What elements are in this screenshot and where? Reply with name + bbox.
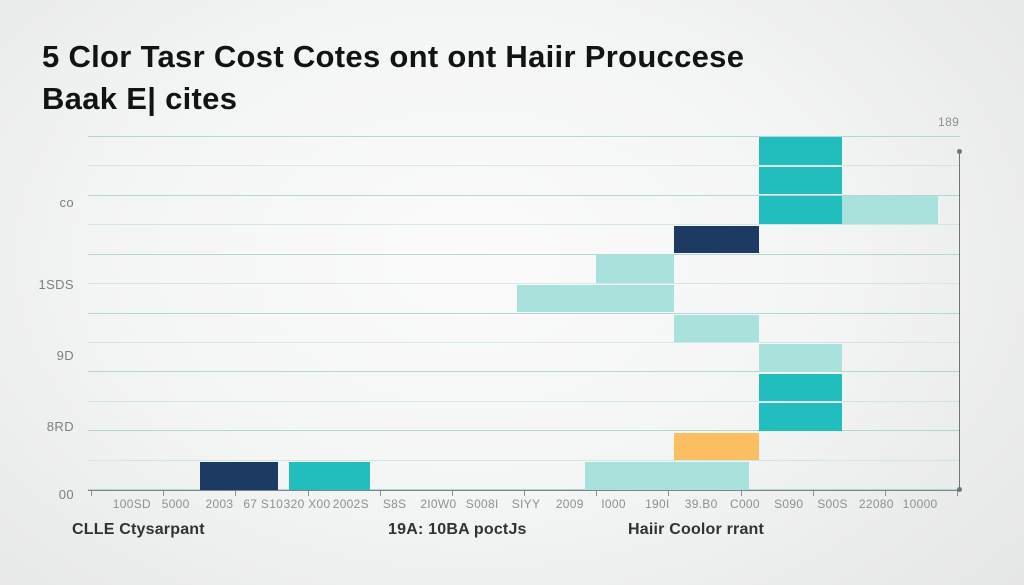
x-axis-tick-label: SIYY bbox=[512, 497, 541, 511]
bar-segment[interactable] bbox=[289, 462, 370, 490]
x-axis-tick-label: 100SD bbox=[113, 497, 151, 511]
x-axis-tick-mark bbox=[813, 491, 814, 496]
x-axis-tick-label: S090 bbox=[774, 497, 803, 511]
bar-segment[interactable] bbox=[674, 226, 759, 254]
x-axis-tick-mark bbox=[524, 491, 525, 496]
plot-area bbox=[88, 136, 960, 491]
x-axis-tick-mark bbox=[452, 491, 453, 496]
gridline bbox=[88, 313, 960, 314]
x-axis-tick-mark bbox=[885, 491, 886, 496]
corner-tick-label: 189 bbox=[938, 115, 959, 129]
x-axis-tick-mark bbox=[91, 491, 92, 496]
x-axis-line bbox=[88, 490, 960, 491]
category-caption: 19A: 10BA poctJs bbox=[388, 521, 527, 539]
chart-title-line-2: Baak E| cites bbox=[42, 78, 942, 120]
x-axis-tick-label: 39.B0 bbox=[685, 497, 718, 511]
bar-segment[interactable] bbox=[585, 462, 749, 490]
bar-segment[interactable] bbox=[759, 167, 842, 195]
x-axis-tick-label: 22080 bbox=[859, 497, 894, 511]
x-axis-tick-label: S00S bbox=[817, 497, 848, 511]
bar-segment[interactable] bbox=[674, 315, 759, 343]
x-axis-tick-label: C000 bbox=[730, 497, 760, 511]
x-axis-tick-label: 320 X00 bbox=[284, 497, 331, 511]
bar-segment[interactable] bbox=[517, 285, 674, 313]
x-axis-tick-mark bbox=[235, 491, 236, 496]
chart-canvas: 5 Clor Tasr Cost Cotes ont ont Haiir Pro… bbox=[0, 0, 1024, 585]
bar-segment[interactable] bbox=[596, 255, 674, 283]
x-axis-tick-label: I000 bbox=[601, 497, 626, 511]
y-axis-tick-label: 8RD bbox=[14, 419, 74, 434]
x-axis-tick-mark bbox=[741, 491, 742, 496]
x-axis-tick-label: 2003 bbox=[206, 497, 234, 511]
x-axis-tick-label: S008I bbox=[466, 497, 499, 511]
gridline bbox=[88, 283, 960, 284]
x-axis-tick-mark bbox=[668, 491, 669, 496]
x-axis-tick-label: 2009 bbox=[556, 497, 584, 511]
gridline bbox=[88, 460, 960, 461]
bar-segment[interactable] bbox=[759, 374, 842, 402]
gridline bbox=[88, 224, 960, 225]
x-axis-tick-mark bbox=[163, 491, 164, 496]
bar-segment[interactable] bbox=[759, 137, 842, 165]
right-axis-line bbox=[959, 151, 960, 490]
bar-segment[interactable] bbox=[200, 462, 278, 490]
y-axis-tick-label: 9D bbox=[14, 348, 74, 363]
bar-segment[interactable] bbox=[759, 403, 842, 431]
category-caption: Haiir Coolor rrant bbox=[628, 521, 764, 539]
x-axis-tick-label: 5000 bbox=[162, 497, 190, 511]
x-axis-tick-label: 2002S bbox=[333, 497, 369, 511]
x-axis-tick-mark bbox=[308, 491, 309, 496]
y-axis-tick-label: 00 bbox=[14, 487, 74, 502]
x-axis-tick-mark bbox=[380, 491, 381, 496]
x-axis-tick-label: 190I bbox=[645, 497, 670, 511]
x-axis-tick-mark bbox=[596, 491, 597, 496]
category-caption: CLLE Ctysarpant bbox=[72, 521, 205, 539]
bar-segment[interactable] bbox=[759, 196, 842, 224]
bar-segment[interactable] bbox=[759, 344, 842, 372]
chart-title-line-1: 5 Clor Tasr Cost Cotes ont ont Haiir Pro… bbox=[42, 36, 942, 78]
gridline bbox=[88, 342, 960, 343]
y-axis-tick-label: 1SDS bbox=[14, 277, 74, 292]
x-axis-tick-label: 67 S10 bbox=[243, 497, 283, 511]
y-axis-tick-label: co bbox=[14, 195, 74, 210]
x-axis-tick-label: 2I0W0 bbox=[420, 497, 456, 511]
chart-title: 5 Clor Tasr Cost Cotes ont ont Haiir Pro… bbox=[42, 36, 942, 120]
x-axis-tick-label: S8S bbox=[383, 497, 407, 511]
x-axis-tick-label: 10000 bbox=[903, 497, 938, 511]
bar-segment[interactable] bbox=[674, 433, 759, 461]
bar-segment[interactable] bbox=[842, 196, 938, 224]
gridline bbox=[88, 254, 960, 255]
